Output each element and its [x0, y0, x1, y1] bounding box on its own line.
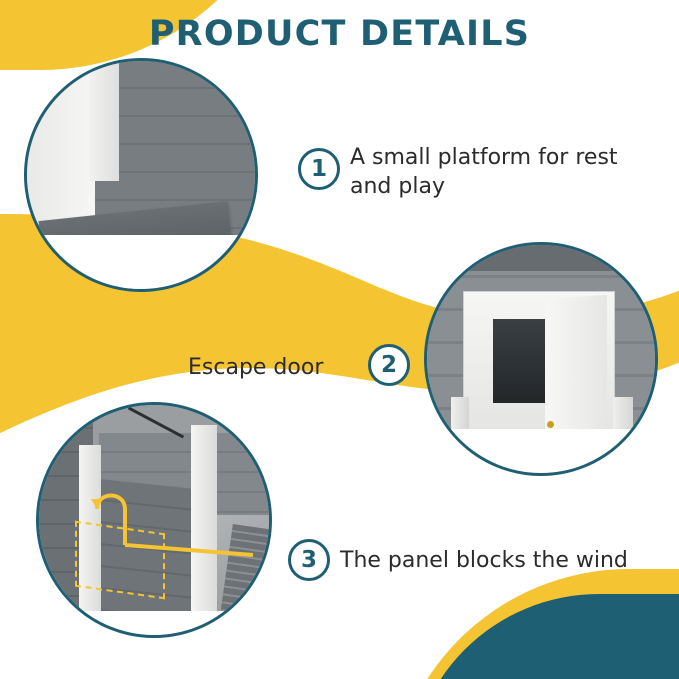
product-details-page: PRODUCT DETAILS [0, 0, 679, 679]
white-post [89, 61, 119, 181]
feature-caption-3: The panel blocks the wind [340, 546, 660, 575]
feature-caption-2: Escape door [188, 353, 368, 382]
wind-direction-arrow-icon [39, 405, 269, 635]
feature-badge-1: 1 [298, 148, 340, 190]
photo-3-bottom-edge [39, 611, 269, 635]
feature-caption-1: A small platform for rest and play [350, 143, 650, 201]
photo-2-ground [427, 429, 655, 473]
feature-photo-3 [36, 402, 272, 638]
page-title: PRODUCT DETAILS [0, 14, 679, 54]
feature-photo-1-image [27, 61, 255, 289]
feature-photo-2-image [427, 245, 655, 473]
feature-photo-1 [24, 58, 258, 292]
door-screw [547, 421, 554, 428]
feature-photo-3-image [39, 405, 269, 635]
house-roof-edge [427, 245, 655, 271]
feature-badge-3: 3 [288, 539, 330, 581]
photo-1-floor [27, 235, 255, 289]
feature-badge-2: 2 [368, 344, 410, 386]
feature-photo-2 [424, 242, 658, 476]
decorative-teal-bottom-arc [409, 594, 679, 679]
escape-door-panel [545, 295, 607, 449]
